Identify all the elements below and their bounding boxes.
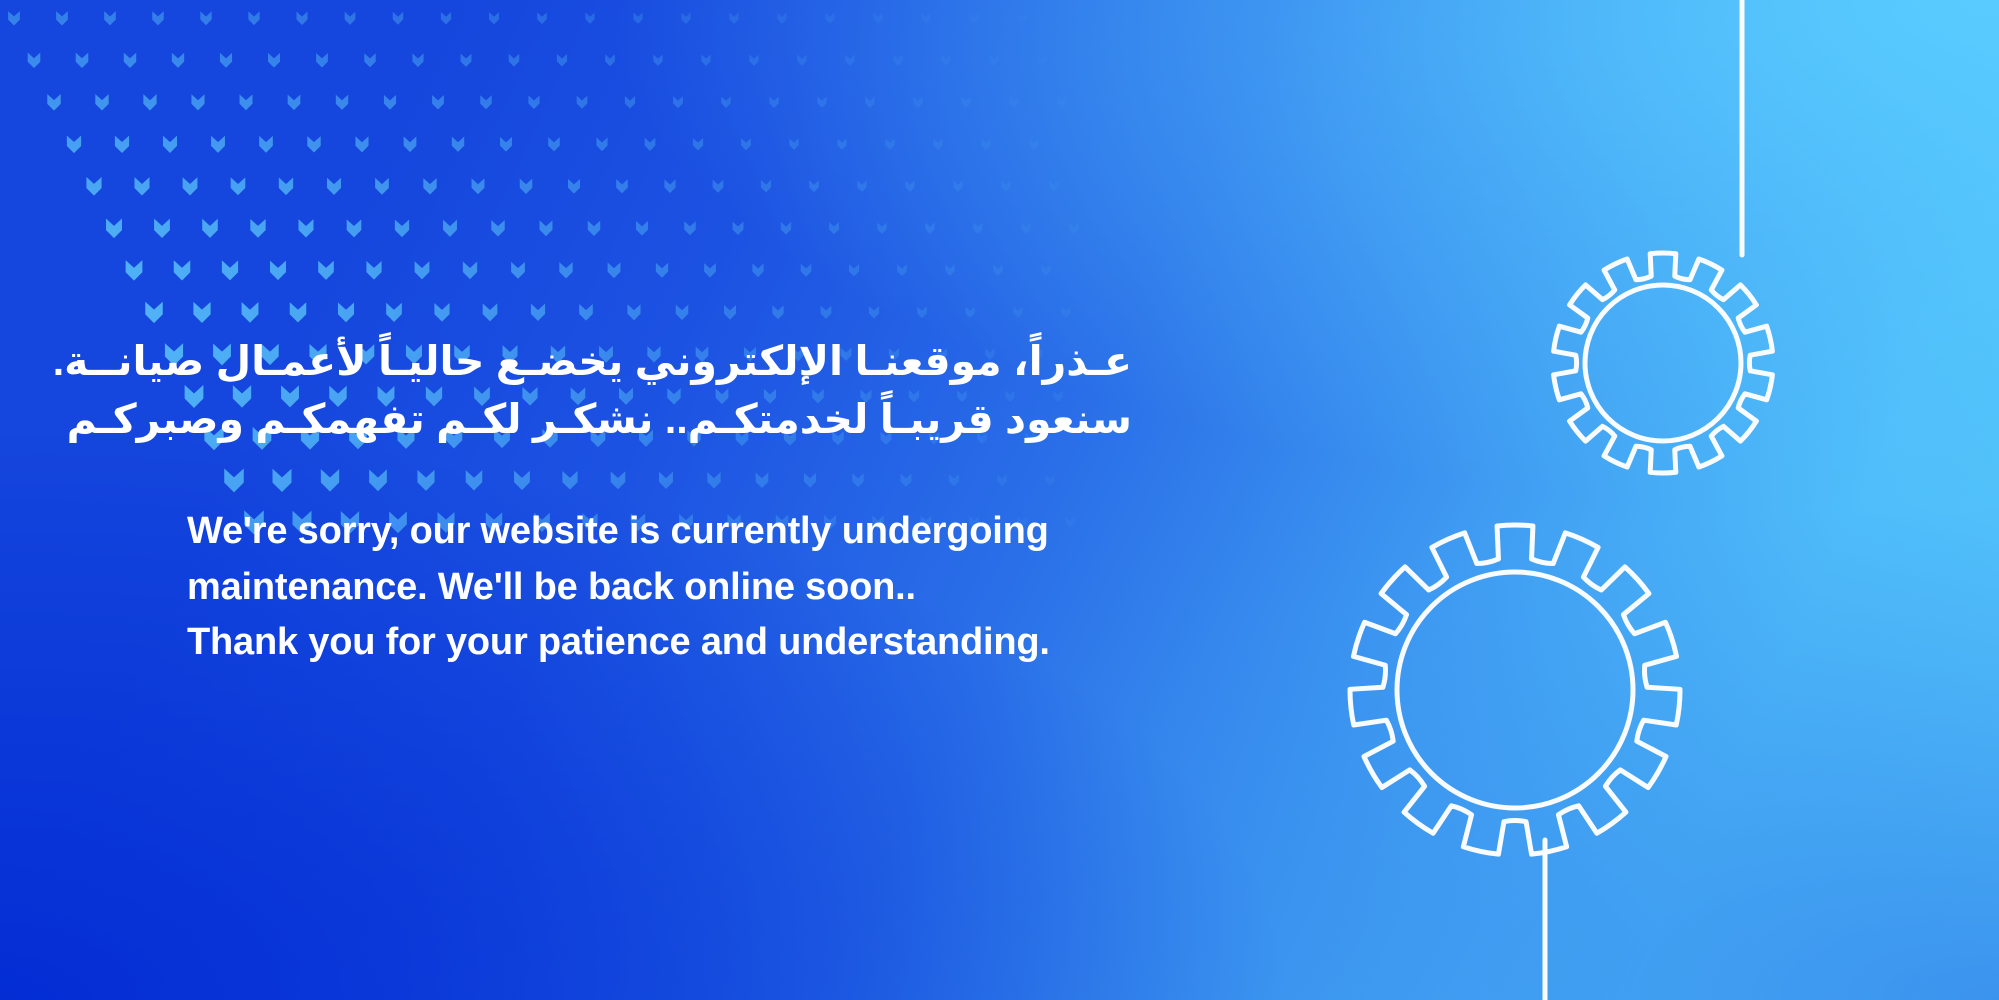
arabic-line-2: سنعود قريبـاً لخدمتكـم.. نشكـر لكـم تفهم… (187, 390, 1132, 448)
english-message: We're sorry, our website is currently un… (187, 504, 1207, 670)
english-line-3: Thank you for your patience and understa… (187, 615, 1207, 670)
maintenance-page: عـذراً، موقعنـا الإلكتروني يخضـع حاليـاً… (0, 0, 1999, 1000)
english-line-2: maintenance. We'll be back online soon.. (187, 560, 1207, 615)
message-block: عـذراً، موقعنـا الإلكتروني يخضـع حاليـاً… (187, 332, 1207, 671)
arabic-line-1: عـذراً، موقعنـا الإلكتروني يخضـع حاليـاً… (187, 332, 1132, 390)
english-line-1: We're sorry, our website is currently un… (187, 504, 1207, 559)
arabic-message: عـذراً، موقعنـا الإلكتروني يخضـع حاليـاً… (187, 332, 1132, 448)
